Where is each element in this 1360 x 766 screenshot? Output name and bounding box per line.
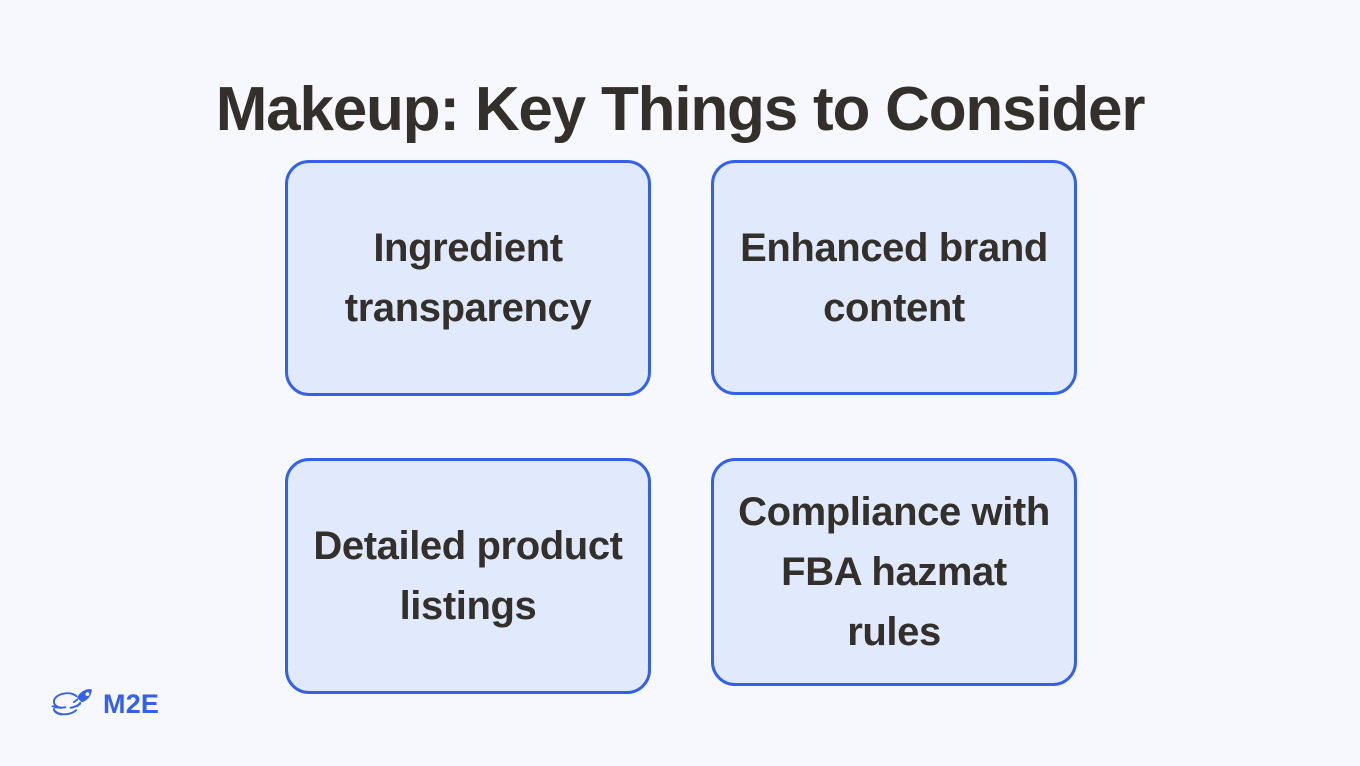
consideration-card-label: Ingredient transparency — [304, 218, 632, 338]
page-title: Makeup: Key Things to Consider — [0, 72, 1360, 148]
consideration-card-detailed-product-listings[interactable]: Detailed product listings — [285, 458, 651, 694]
consideration-card-label: Enhanced brand content — [730, 218, 1058, 338]
key-considerations-grid: Ingredient transparency Enhanced brand c… — [285, 160, 1077, 694]
brand-name: M2E — [103, 691, 159, 718]
consideration-card-fba-hazmat-compliance[interactable]: Compliance with FBA hazmat rules — [711, 458, 1077, 686]
consideration-card-ingredient-transparency[interactable]: Ingredient transparency — [285, 160, 651, 396]
rocket-orbit-icon — [50, 687, 96, 721]
consideration-card-label: Detailed product listings — [304, 516, 632, 636]
brand-logo: M2E — [50, 687, 159, 721]
consideration-card-enhanced-brand-content[interactable]: Enhanced brand content — [711, 160, 1077, 395]
slide-canvas: Makeup: Key Things to Consider Ingredien… — [0, 0, 1360, 766]
consideration-card-label: Compliance with FBA hazmat rules — [730, 482, 1058, 662]
